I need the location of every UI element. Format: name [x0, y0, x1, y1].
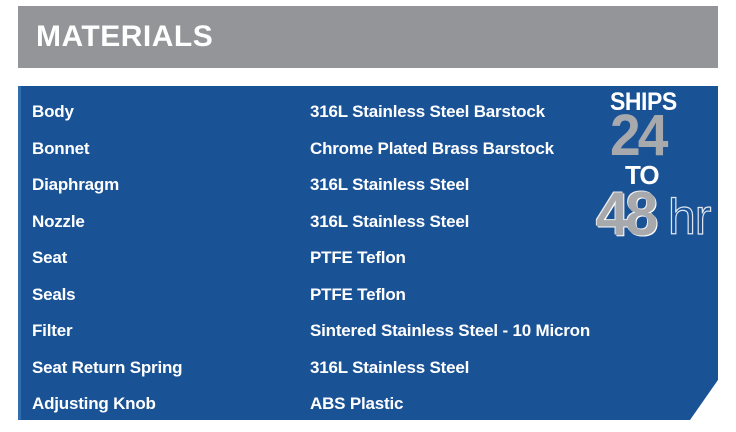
material-value-cell: Chrome Plated Brass Barstock: [310, 139, 554, 159]
table-row: Nozzle316L Stainless Steel: [18, 204, 718, 241]
part-name-cell: Filter: [32, 321, 72, 341]
material-value-cell: 316L Stainless Steel: [310, 358, 469, 378]
part-name-cell: Seals: [32, 285, 75, 305]
part-name-cell: Diaphragm: [32, 175, 119, 195]
material-value-cell: 316L Stainless Steel Barstock: [310, 102, 545, 122]
part-name-cell: Bonnet: [32, 139, 89, 159]
section-header-bar: MATERIALS: [18, 6, 718, 68]
table-row: Diaphragm316L Stainless Steel: [18, 167, 718, 204]
material-value-cell: 316L Stainless Steel: [310, 175, 469, 195]
material-value-cell: ABS Plastic: [310, 394, 403, 414]
part-name-cell: Adjusting Knob: [32, 394, 156, 414]
material-value-cell: PTFE Teflon: [310, 248, 406, 268]
material-value-cell: PTFE Teflon: [310, 285, 406, 305]
material-value-cell: 316L Stainless Steel: [310, 212, 469, 232]
part-name-cell: Nozzle: [32, 212, 85, 232]
page-title: MATERIALS: [18, 22, 213, 52]
materials-spec-sheet: MATERIALS Body316L Stainless Steel Barst…: [0, 0, 736, 432]
table-row: FilterSintered Stainless Steel - 10 Micr…: [18, 313, 718, 350]
materials-table-rows: Body316L Stainless Steel BarstockBonnetC…: [18, 86, 718, 420]
part-name-cell: Seat: [32, 248, 67, 268]
material-value-cell: Sintered Stainless Steel - 10 Micron: [310, 321, 590, 341]
table-row: Adjusting KnobABS Plastic: [18, 386, 718, 420]
table-row: Body316L Stainless Steel Barstock: [18, 94, 718, 131]
table-row: BonnetChrome Plated Brass Barstock: [18, 131, 718, 168]
table-row: Seat Return Spring316L Stainless Steel: [18, 350, 718, 387]
part-name-cell: Body: [32, 102, 74, 122]
part-name-cell: Seat Return Spring: [32, 358, 182, 378]
materials-table-panel: Body316L Stainless Steel BarstockBonnetC…: [18, 86, 718, 420]
table-row: SealsPTFE Teflon: [18, 277, 718, 314]
table-row: SeatPTFE Teflon: [18, 240, 718, 277]
